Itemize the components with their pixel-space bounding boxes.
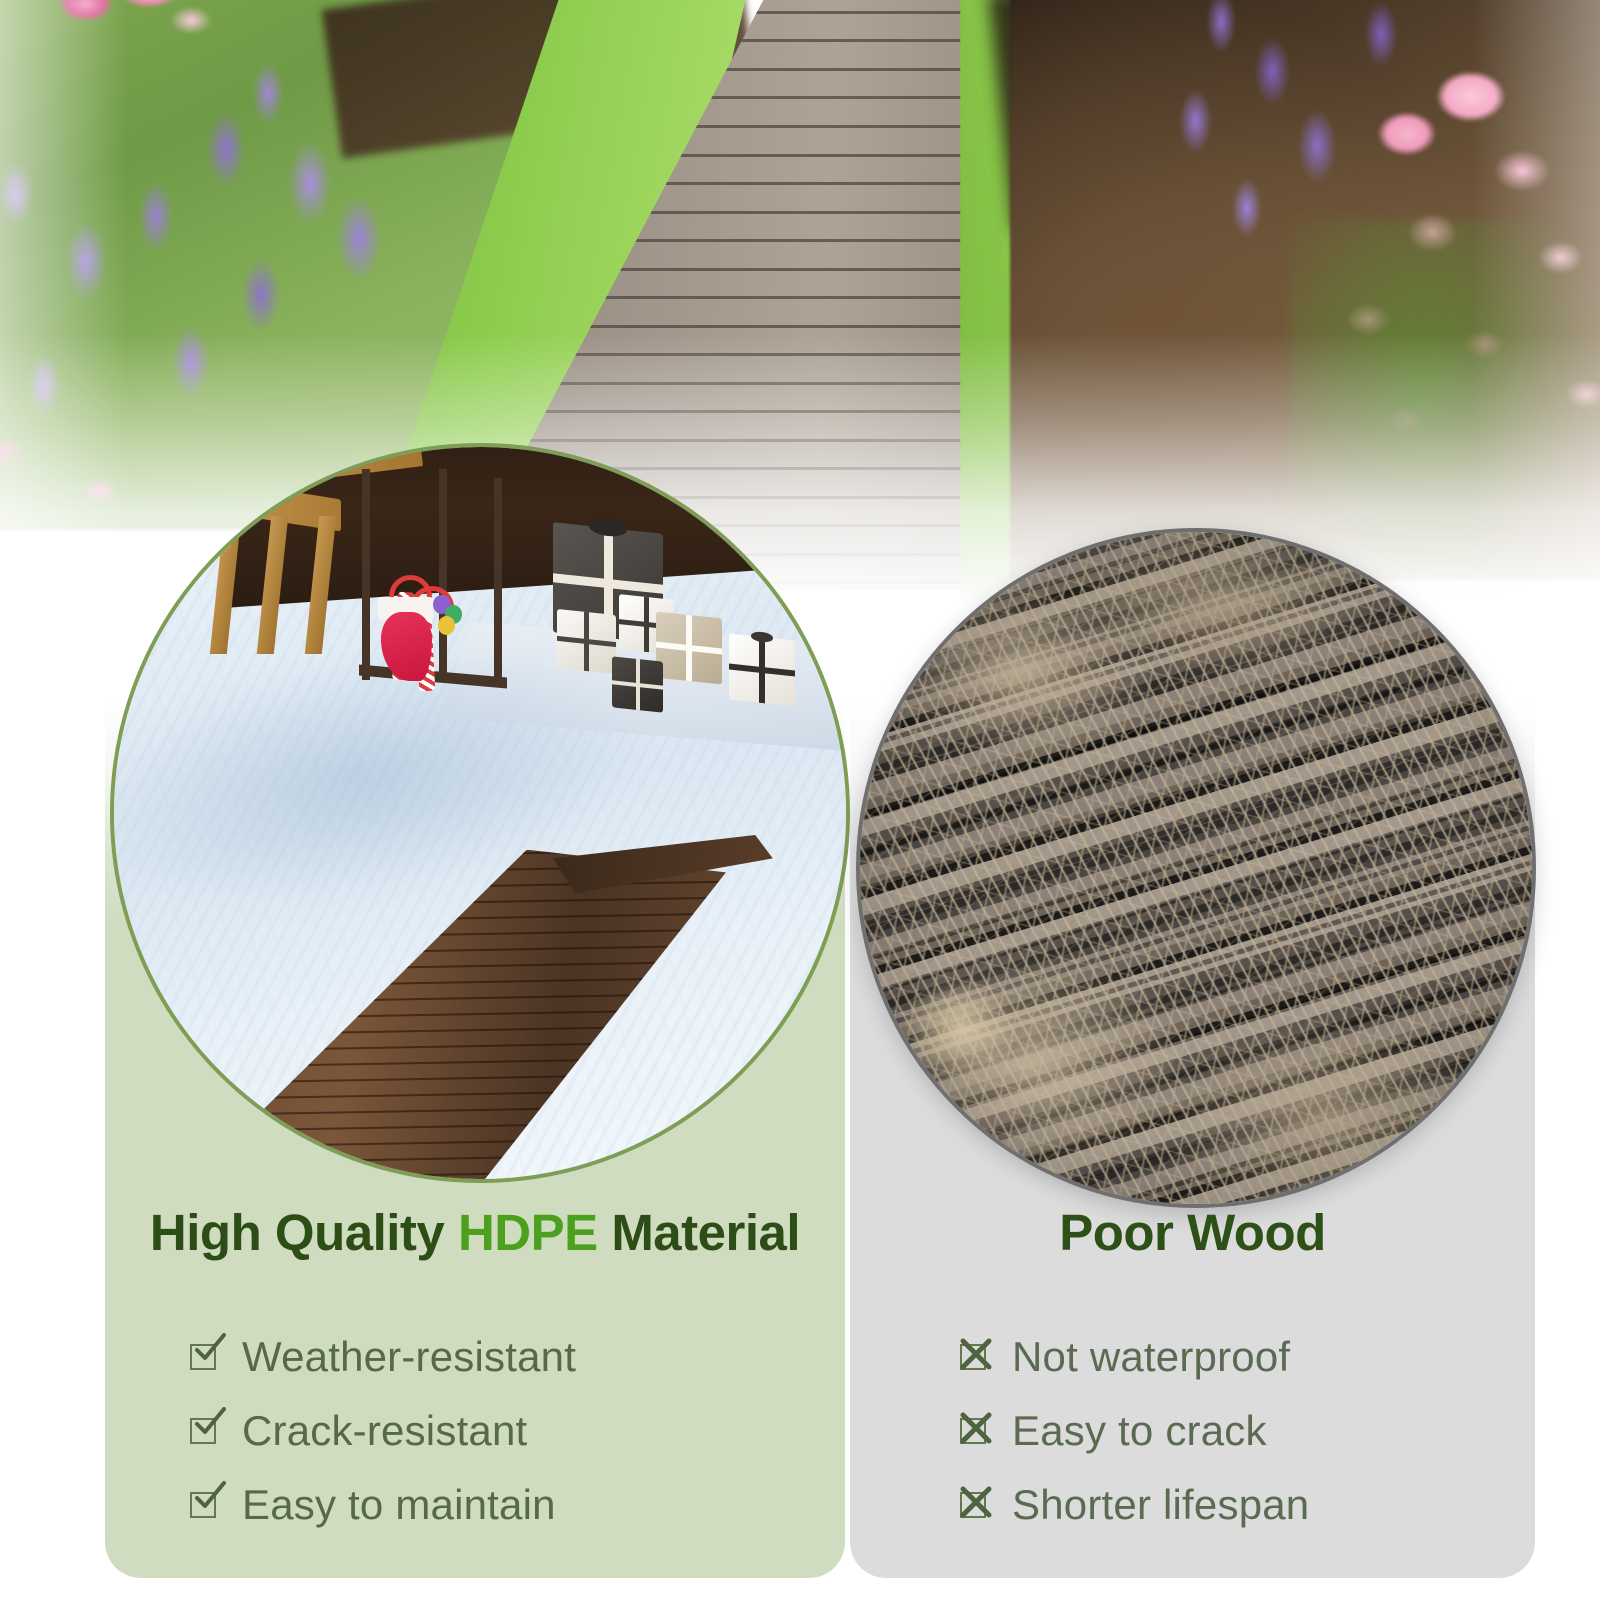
feature-label: Shorter lifespan <box>1012 1481 1309 1529</box>
checkbox-cross-icon <box>960 1416 990 1446</box>
list-item: Shorter lifespan <box>960 1468 1540 1542</box>
list-item: Weather-resistant <box>190 1320 850 1394</box>
feature-label: Not waterproof <box>1012 1333 1290 1381</box>
gift-box <box>656 612 722 685</box>
vignette <box>860 532 1532 1204</box>
frame-post <box>362 469 370 680</box>
feature-label: Crack-resistant <box>242 1407 527 1455</box>
checkbox-check-icon <box>190 1342 220 1372</box>
checkbox-cross-icon <box>960 1490 990 1520</box>
feature-label: Weather-resistant <box>242 1333 576 1381</box>
wooden-bench <box>209 469 341 667</box>
list-item: Crack-resistant <box>190 1394 850 1468</box>
bench-leg <box>210 516 242 654</box>
checkbox-cross-icon <box>960 1342 990 1372</box>
panel-title-hdpe: High Quality HDPE Material <box>105 1203 845 1262</box>
rotted-wood-photo <box>856 528 1536 1208</box>
list-item: Easy to crack <box>960 1394 1540 1468</box>
feature-label: Easy to maintain <box>242 1481 556 1529</box>
list-item: Easy to maintain <box>190 1468 850 1542</box>
title-part-3: Material <box>598 1204 800 1261</box>
panel-title-wood: Poor Wood <box>850 1203 1535 1262</box>
metal-frame-stand <box>356 469 517 689</box>
hdpe-mat-photo <box>110 443 850 1183</box>
checkbox-check-icon <box>190 1490 220 1520</box>
title-part-1: High Quality <box>150 1204 458 1261</box>
title-text-wood: Poor Wood <box>1059 1204 1326 1261</box>
frame-post <box>439 469 447 680</box>
bench-leg <box>305 516 337 654</box>
feature-list-wood: Not waterproof Easy to crack Shorter lif… <box>960 1320 1540 1542</box>
bench-leg <box>257 516 289 654</box>
checkbox-check-icon <box>190 1416 220 1446</box>
frame-post <box>494 478 502 680</box>
feature-label: Easy to crack <box>1012 1407 1267 1455</box>
gift-box <box>729 634 795 707</box>
balloon-icon <box>438 616 456 635</box>
list-item: Not waterproof <box>960 1320 1540 1394</box>
title-highlight-hdpe: HDPE <box>458 1204 598 1261</box>
gift-box <box>557 609 616 674</box>
gift-box <box>612 657 663 714</box>
feature-list-hdpe: Weather-resistant Crack-resistant Easy t… <box>190 1320 850 1542</box>
comparison-infographic: High Quality HDPE Material Poor Wood Wea… <box>0 0 1600 1600</box>
